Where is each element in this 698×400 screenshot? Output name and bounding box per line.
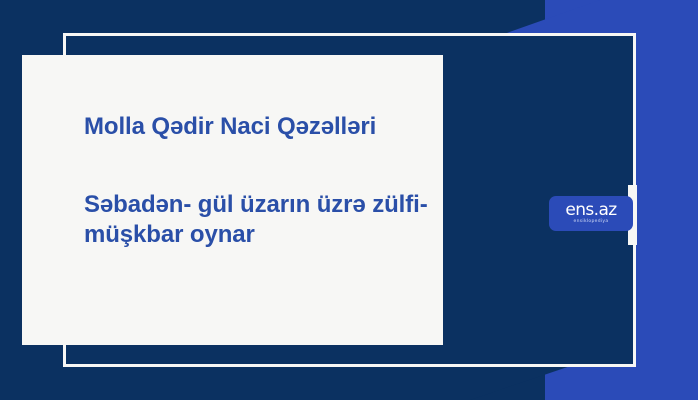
ens-az-logo[interactable]: ens.az ensiklopediya: [549, 196, 633, 231]
logo-wordmark: ens.az: [565, 202, 616, 219]
card-text-block: Molla Qədir Naci Qəzəlləri Səbadən- gül …: [84, 112, 444, 251]
article-subtitle: Səbadən- gül üzarın üzrə zülfi-müşkbar o…: [84, 190, 444, 251]
page-title: Molla Qədir Naci Qəzəlləri: [84, 112, 444, 143]
article-share-banner: Molla Qədir Naci Qəzəlləri Səbadən- gül …: [0, 0, 698, 400]
content-card: Molla Qədir Naci Qəzəlləri Səbadən- gül …: [22, 55, 443, 345]
logo-subtitle: ensiklopediya: [574, 220, 609, 225]
